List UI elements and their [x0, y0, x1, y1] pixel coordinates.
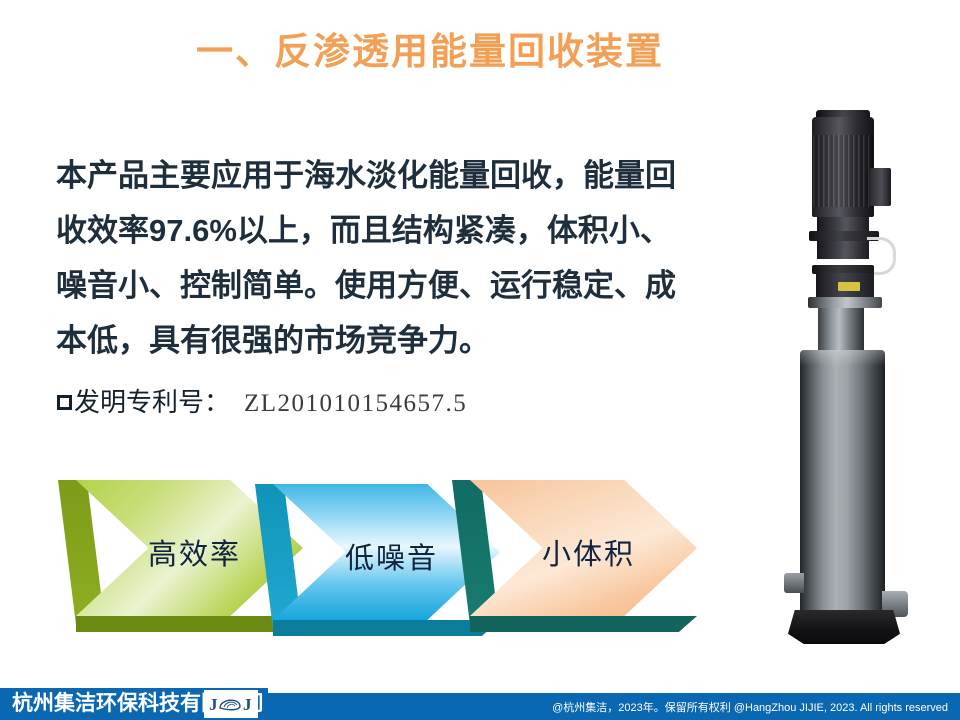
product-photo	[760, 105, 960, 655]
footer-copyright: @杭州集洁，2023年。保留所有权利 @HangZhou JIJIE, 2023…	[552, 699, 948, 715]
feature-chevron-small-volume: 小体积	[452, 472, 697, 632]
patent-number: ZL201010154657.5	[244, 390, 467, 418]
pump-base-plate	[788, 610, 900, 644]
patent-line: 发明专利号： ZL201010154657.5	[57, 382, 467, 419]
pump-nameplate	[838, 282, 860, 291]
pump-body-highlight	[800, 350, 885, 366]
square-bullet-icon	[57, 395, 72, 410]
pump-flange-lower	[808, 297, 882, 308]
pump-junction-box	[870, 168, 891, 206]
page-title: 一、反渗透用能量回收装置	[0, 30, 860, 74]
body-text-block: 本产品主要应用于海水淡化能量回收，能量回收效率97.6%以上，而且结构紧凑，体积…	[56, 148, 696, 368]
feature-chevron-row: 高效率 低噪音 小体积	[0, 470, 700, 645]
pump-stainless-body	[800, 350, 885, 620]
svg-text:J: J	[243, 695, 252, 714]
pump-port-left	[784, 573, 804, 593]
slide-canvas: 一、反渗透用能量回收装置 本产品主要应用于海水淡化能量回收，能量回收效率97.6…	[0, 0, 960, 720]
company-logo-icon: J J	[204, 690, 258, 718]
body-paragraph: 本产品主要应用于海水淡化能量回收，能量回收效率97.6%以上，而且结构紧凑，体积…	[56, 148, 696, 368]
chevron-label: 小体积	[452, 531, 697, 573]
pump-motor-fins	[813, 135, 873, 207]
svg-text:J: J	[209, 695, 218, 714]
patent-label: 发明专利号：	[74, 382, 230, 419]
chevron-bevel-bottom	[470, 616, 697, 632]
